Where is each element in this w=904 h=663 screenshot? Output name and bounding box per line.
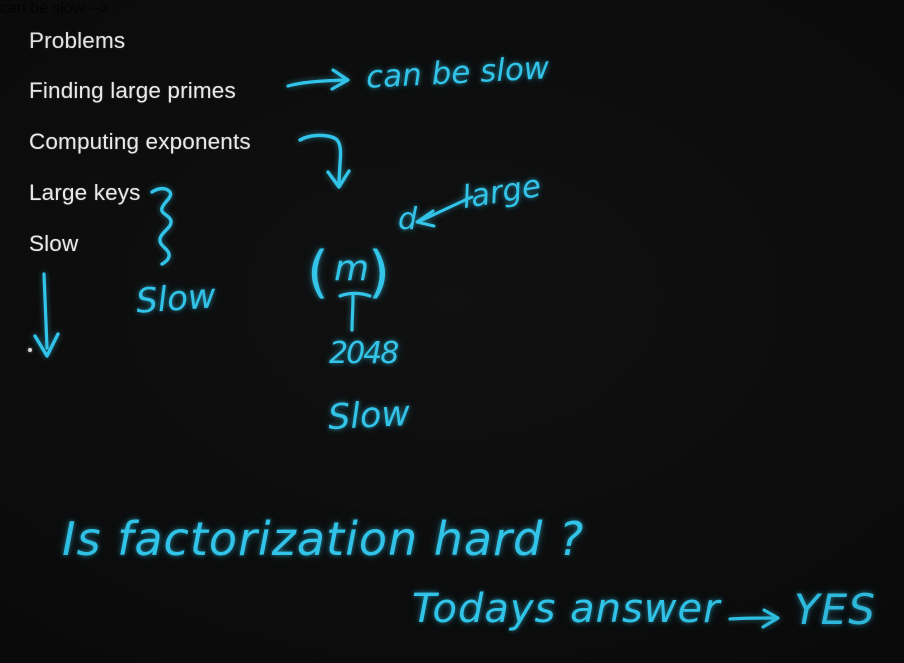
slide-bullet-computing-exponents: Computing exponents — [29, 129, 251, 155]
tick-connector-icon — [336, 290, 376, 334]
arrow-right-icon — [286, 62, 368, 96]
annotation-slow-left: Slow — [135, 276, 217, 321]
arrow-elbow-down-icon — [298, 130, 358, 200]
slide-heading: Problems — [29, 28, 125, 54]
annotation-answer-value: YES — [794, 585, 876, 634]
annotation-large-label: large — [460, 168, 544, 216]
annotation-slow-center: Slow — [327, 394, 411, 438]
slide-bullet-finding-large-primes: Finding large primes — [29, 78, 236, 104]
arrow-down-icon — [30, 272, 74, 368]
annotation-can-be-slow: can be slow — [365, 50, 550, 96]
cursor-dot — [28, 348, 32, 352]
annotation-bit-length: 2048 — [329, 336, 397, 371]
annotation-answer-prefix: Todays answer — [412, 586, 721, 632]
squiggle-connector-icon — [150, 186, 190, 266]
lecture-video-frame: Problems Finding large primes Computing … — [0, 0, 904, 663]
annotation-question: Is factorization hard ? — [62, 512, 584, 566]
slide-bullet-slow: Slow — [29, 231, 78, 257]
arrow-right-icon — [728, 607, 786, 633]
slide-bullet-large-keys: Large keys — [29, 180, 141, 206]
annotation-open-paren: ( — [307, 240, 329, 305]
annotation-base-symbol: m — [334, 248, 369, 289]
